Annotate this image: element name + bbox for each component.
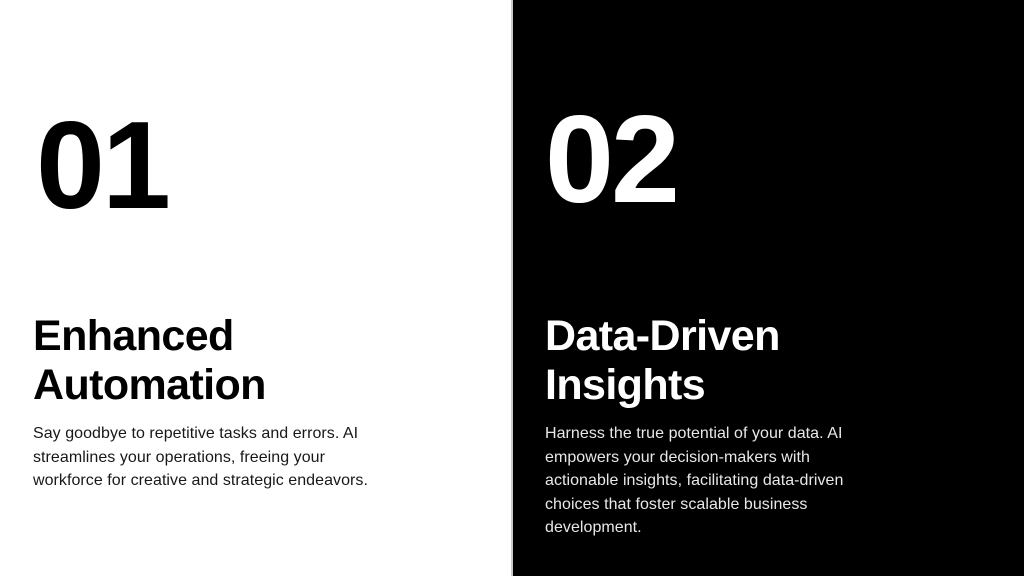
two-column-feature-slide: 01 Enhanced Automation Say goodbye to re… [0, 0, 1024, 576]
panel-body-02: Harness the true potential of your data.… [545, 422, 885, 540]
feature-panel-01: 01 Enhanced Automation Say goodbye to re… [0, 0, 512, 576]
panel-number-01: 01 [36, 104, 168, 228]
panel-content-01: Enhanced Automation Say goodbye to repet… [33, 312, 383, 493]
panel-heading-02: Data-Driven Insights [545, 312, 885, 410]
feature-panel-02: 02 Data-Driven Insights Harness the true… [512, 0, 1024, 576]
panel-number-02: 02 [545, 98, 677, 222]
panel-body-01: Say goodbye to repetitive tasks and erro… [33, 422, 383, 493]
panel-heading-01: Enhanced Automation [33, 312, 383, 410]
panel-content-02: Data-Driven Insights Harness the true po… [545, 312, 885, 540]
